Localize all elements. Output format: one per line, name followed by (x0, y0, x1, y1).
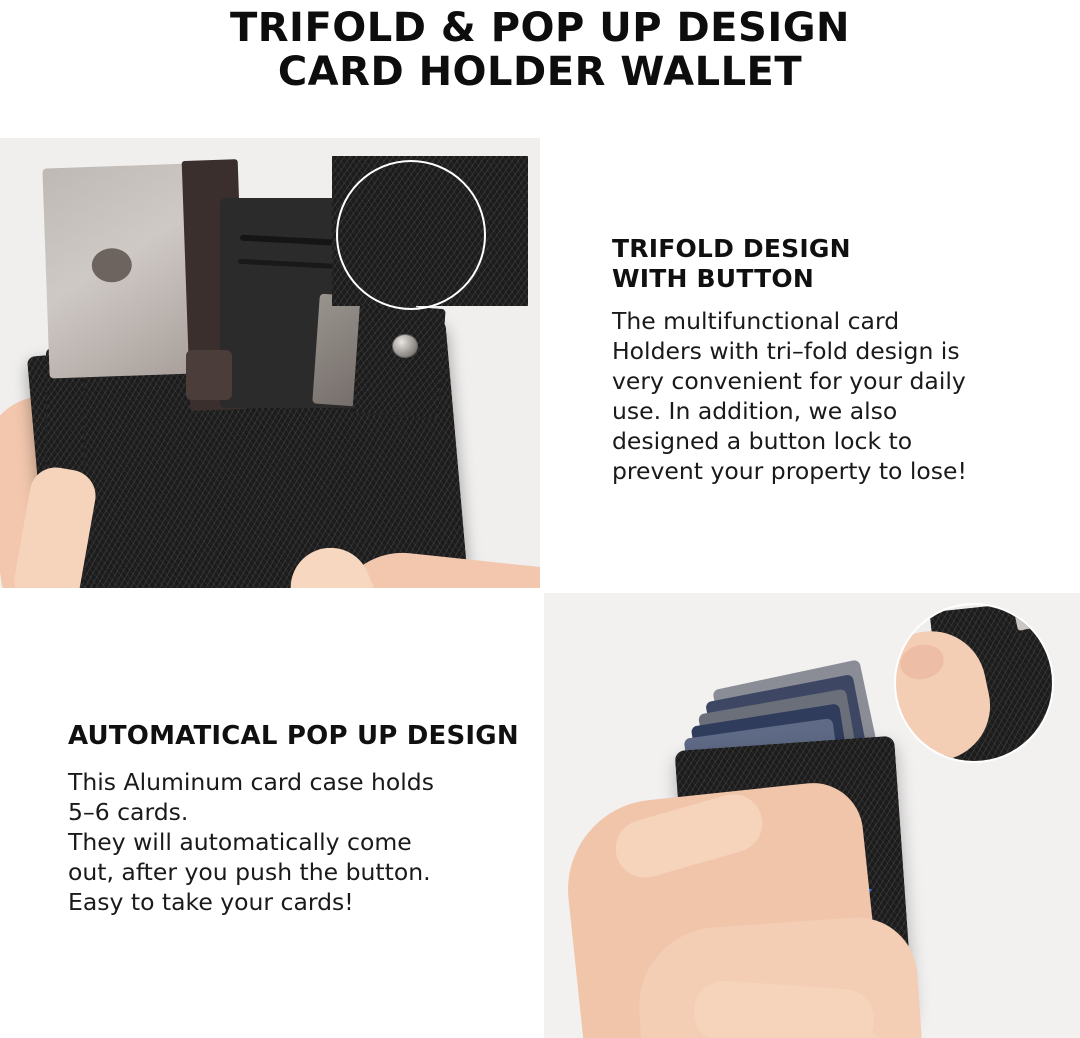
trifold-body-text: The multifunctional card Holders with tr… (612, 306, 1042, 486)
trifold-heading-line-1: TRIFOLD DESIGN (612, 234, 851, 263)
trifold-wallet-open-in-hands-photo (0, 138, 540, 588)
id-window (42, 163, 197, 378)
popup-photo-cell (544, 593, 1080, 1038)
horizontal-divider (0, 588, 1080, 593)
trifold-text-cell: TRIFOLD DESIGN WITH BUTTON The multifunc… (544, 138, 1080, 588)
inset-circle-ring (336, 160, 486, 310)
push-button-inset-photo (894, 603, 1054, 763)
popup-text-block: AUTOMATICAL POP UP DESIGN This Aluminum … (68, 721, 528, 917)
carbon-pull-tab (352, 303, 445, 419)
page-title-line-1: TRIFOLD & POP UP DESIGN (230, 5, 850, 51)
page-title: TRIFOLD & POP UP DESIGN CARD HOLDER WALL… (0, 6, 1080, 94)
snap-button-stud (392, 334, 418, 358)
trifold-photo-cell (0, 138, 540, 588)
popup-text-cell: AUTOMATICAL POP UP DESIGN This Aluminum … (0, 593, 540, 1038)
pop-up-wallet-in-hand-photo (544, 593, 1080, 1038)
inner-leather-tab (186, 350, 232, 400)
id-window-thumb-cutout (91, 248, 132, 283)
page-header: TRIFOLD & POP UP DESIGN CARD HOLDER WALL… (0, 0, 1080, 94)
trifold-text-block: TRIFOLD DESIGN WITH BUTTON The multifunc… (612, 234, 1042, 486)
popup-body-text: This Aluminum card case holds 5–6 cards.… (68, 767, 528, 917)
trifold-heading-line-2: WITH BUTTON (612, 264, 1042, 294)
trifold-heading: TRIFOLD DESIGN WITH BUTTON (612, 234, 1042, 294)
popup-heading: AUTOMATICAL POP UP DESIGN (68, 721, 528, 751)
feature-grid: TRIFOLD DESIGN WITH BUTTON The multifunc… (0, 138, 1080, 1038)
page-title-line-2: CARD HOLDER WALLET (0, 50, 1080, 94)
